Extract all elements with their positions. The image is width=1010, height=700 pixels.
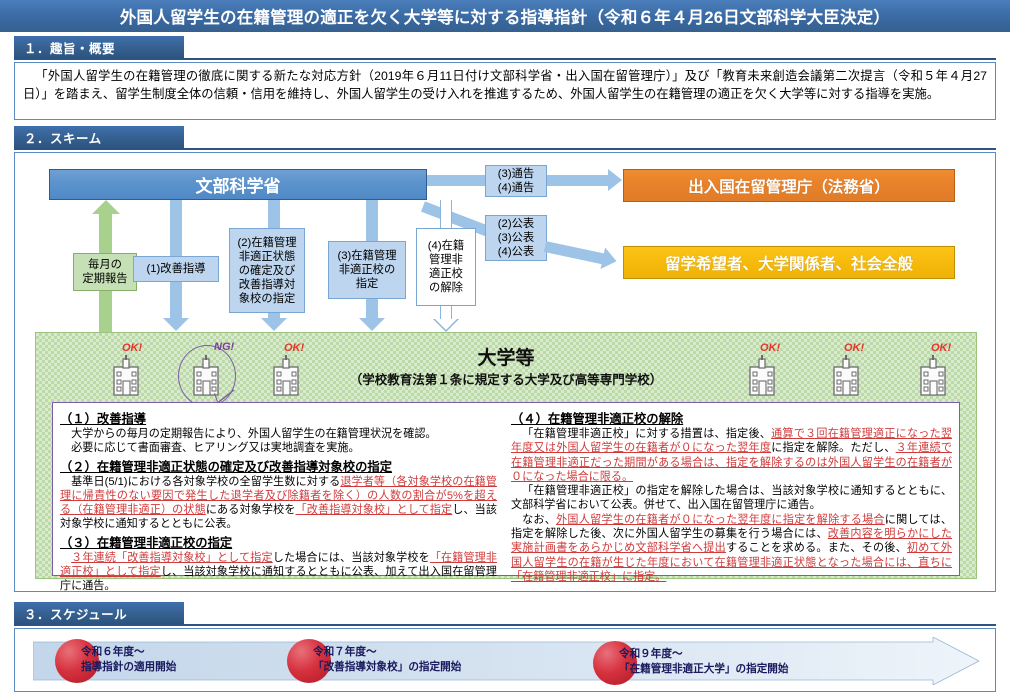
- section-header-scheme: ２．スキーム: [14, 126, 184, 148]
- schedule-year-2: 令和７年度～: [313, 645, 377, 659]
- overview-text: 「外国人留学生の在籍管理の徹底に関する新たな対応方針（2019年６月11日付け文…: [23, 68, 987, 103]
- detail-column-left: （１）改善指導 大学からの毎月の定期報告により、外国人留学生の在籍管理状況を確認…: [53, 403, 504, 575]
- detail-text-6c: することを求める。また、その後、: [726, 542, 907, 554]
- step-3-line2: 非適正校の: [339, 263, 396, 277]
- detail-text-4b: に指定を解除。ただし、: [771, 442, 895, 454]
- monthly-report-line1: 毎月の: [88, 258, 122, 272]
- school-icon-4: [828, 355, 864, 397]
- detail-column-right: （４）在籍管理非適正校の解除 「在籍管理非適正校」に対する措置は、指定後、通算で…: [504, 403, 959, 575]
- ok-tag-2: OK!: [284, 342, 304, 354]
- detail-text-2: 基準日(5/1)における各対象学校の全留学生数に対する退学者等（各対象学校の在籍…: [60, 475, 497, 532]
- step-4-line2: 管理非: [429, 253, 463, 267]
- section-1-underline: [14, 58, 996, 60]
- schedule-box: 令和６年度～ 指導指針の適用開始 令和７年度～ 「改善指導対象校」の指定開始 令…: [14, 628, 996, 692]
- publish-label-line3: (4)公表: [498, 245, 534, 259]
- notice-label: (3)通告 (4)通告: [485, 165, 547, 197]
- detail-text-2b: にある対象学校を: [206, 504, 296, 516]
- detail-text-2a: 基準日(5/1)における各対象学校の全留学生数に対する: [71, 476, 340, 488]
- step-3-line3: 指定: [356, 277, 379, 291]
- publish-label-line1: (2)公表: [498, 217, 534, 231]
- immigration-agency-box: 出入国在留管理庁（法務省）: [623, 169, 955, 202]
- detail-box: （１）改善指導 大学からの毎月の定期報告により、外国人留学生の在籍管理状況を確認…: [52, 402, 960, 576]
- mext-box: 文部科学省: [49, 169, 427, 200]
- detail-text-2-highlight2: 「改善指導対象校」として指定: [296, 504, 453, 516]
- ok-tag-5: OK!: [931, 342, 951, 354]
- monthly-report-label: 毎月の 定期報告: [73, 253, 137, 291]
- slide-page: 外国人留学生の在籍管理の適正を欠く大学等に対する指導指針（令和６年４月26日文部…: [0, 0, 1010, 700]
- detail-text-5: 「在籍管理非適正校」の指定を解除した場合は、当該対象学校に通知するとともに、文部…: [511, 484, 952, 513]
- notice-label-line2: (4)通告: [498, 181, 534, 195]
- schedule-event-1: 指導指針の適用開始: [81, 660, 176, 674]
- step-4-line3: 適正校: [429, 267, 463, 281]
- step-3-label: (3)在籍管理 非適正校の 指定: [328, 241, 406, 299]
- detail-text-4: 「在籍管理非適正校」に対する措置は、指定後、通算で３回在籍管理適正になった翌年度…: [511, 427, 952, 484]
- detail-text-1a: 大学からの毎月の定期報告により、外国人留学生の在籍管理状況を確認。: [60, 427, 497, 441]
- detail-heading-3: （３）在籍管理非適正校の指定: [60, 533, 497, 551]
- school-icon-5: [915, 355, 951, 397]
- school-icon-2: [268, 355, 304, 397]
- detail-text-3a: した場合には、当該対象学校を: [273, 552, 430, 564]
- detail-text-6a: なお、: [522, 514, 556, 526]
- ok-tag-3: OK!: [760, 342, 780, 354]
- schedule-year-3: 令和９年度～: [619, 647, 683, 661]
- arrow-step-4-head-inner: [435, 319, 457, 330]
- publish-label: (2)公表 (3)公表 (4)公表: [485, 215, 547, 261]
- section-3-underline: [14, 624, 996, 626]
- step-3-line1: (3)在籍管理: [338, 249, 397, 263]
- detail-heading-4: （４）在籍管理非適正校の解除: [511, 409, 952, 427]
- detail-text-3-highlight: ３年連続「改善指導対象校」として指定: [71, 552, 273, 564]
- detail-text-1b: 必要に応じて書面審査、ヒアリング又は実地調査を実施。: [60, 441, 497, 455]
- step-2-label: (2)在籍管理 非適正状態 の確定及び 改善指導対 象校の指定: [229, 228, 305, 313]
- ng-tag: NG!: [214, 341, 234, 353]
- section-header-overview: １．趣旨・概要: [14, 36, 184, 58]
- connector-band-notice: [427, 175, 487, 186]
- schedule-event-2: 「改善指導対象校」の指定開始: [313, 660, 461, 674]
- step-2-line3: の確定及び: [239, 264, 296, 278]
- section-header-schedule: ３．スケジュール: [14, 602, 184, 624]
- ok-tag-4: OK!: [844, 342, 864, 354]
- page-title: 外国人留学生の在籍管理の適正を欠く大学等に対する指導指針（令和６年４月26日文部…: [0, 0, 1010, 32]
- arrow-to-public: [544, 241, 605, 264]
- step-2-line5: 象校の指定: [239, 292, 296, 306]
- step-4-line1: (4)在籍: [428, 239, 464, 253]
- detail-heading-1: （１）改善指導: [60, 409, 497, 427]
- detail-text-4a: 「在籍管理非適正校」に対する措置は、指定後、: [522, 428, 771, 440]
- schedule-event-3: 「在籍管理非適正大学」の指定開始: [619, 662, 789, 676]
- school-icon-1: [108, 355, 144, 397]
- arrow-to-immigration: [547, 175, 609, 186]
- school-icon-3: [744, 355, 780, 397]
- notice-label-line1: (3)通告: [498, 167, 534, 181]
- monthly-report-line2: 定期報告: [82, 272, 127, 286]
- section-2-underline: [14, 148, 996, 150]
- step-2-line4: 改善指導対: [239, 278, 296, 292]
- public-stakeholders-box: 留学希望者、大学関係者、社会全般: [623, 246, 955, 279]
- step-2-line1: (2)在籍管理: [238, 236, 297, 250]
- detail-heading-2: （２）在籍管理非適正状態の確定及び改善指導対象校の指定: [60, 457, 497, 475]
- step-2-line2: 非適正状態: [239, 250, 296, 264]
- schedule-year-1: 令和６年度～: [81, 645, 145, 659]
- ok-tag-1: OK!: [122, 342, 142, 354]
- detail-text-6: なお、外国人留学生の在籍者が０になった翌年度に指定を解除する場合に関しては、指定…: [511, 513, 952, 584]
- detail-text-6-highlight: 外国人留学生の在籍者が０になった翌年度に指定を解除する場合: [556, 514, 885, 526]
- step-4-line4: の解除: [429, 281, 463, 295]
- detail-text-3: ３年連続「改善指導対象校」として指定した場合には、当該対象学校を「在籍管理非適正…: [60, 551, 497, 594]
- publish-label-line2: (3)公表: [498, 231, 534, 245]
- overview-box: 「外国人留学生の在籍管理の徹底に関する新たな対応方針（2019年６月11日付け文…: [14, 62, 996, 120]
- step-1-label: (1)改善指導: [133, 256, 219, 282]
- scheme-box: 文部科学省 出入国在留管理庁（法務省） 留学希望者、大学関係者、社会全般 (3)…: [14, 152, 996, 592]
- step-4-label: (4)在籍 管理非 適正校 の解除: [416, 228, 476, 306]
